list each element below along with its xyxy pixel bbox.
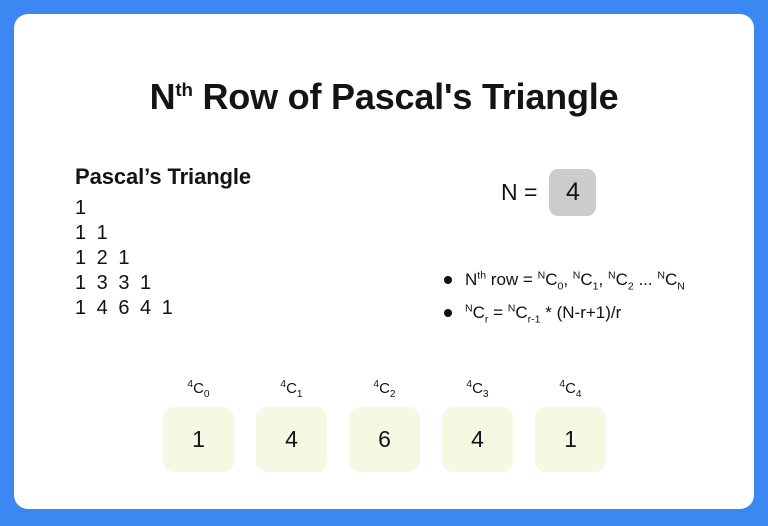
formula-text: NCr = NCr-1 * (N-r+1)/r	[465, 303, 621, 322]
page-title-rest: Row of Pascal's Triangle	[193, 76, 619, 117]
bullet-icon	[444, 309, 452, 317]
pascals-triangle-heading: Pascal’s Triangle	[75, 164, 365, 190]
pascals-triangle-panel: Pascal’s Triangle 1 1 1 1 2 1 1 3 3 1 1 …	[75, 164, 365, 321]
page-title: Nth Row of Pascal's Triangle	[14, 76, 754, 118]
page-title-prefix: N	[150, 76, 176, 117]
formula-item-recurrence: NCr = NCr-1 * (N-r+1)/r	[444, 303, 685, 323]
result-label: 4C4	[559, 380, 581, 397]
result-label: 4C3	[466, 380, 488, 397]
result-row: 4C0 1 4C1 4 4C2 6 4C3 4 4C4 1	[163, 380, 606, 472]
app-frame: Nth Row of Pascal's Triangle Pascal’s Tr…	[0, 0, 768, 526]
content-card: Nth Row of Pascal's Triangle Pascal’s Tr…	[14, 14, 754, 509]
result-value-box: 6	[349, 407, 420, 472]
result-label: 4C1	[280, 380, 302, 397]
triangle-row: 1 3 3 1	[75, 271, 365, 296]
triangle-row: 1 1	[75, 221, 365, 246]
page-title-superscript: th	[175, 79, 192, 100]
result-value-box: 1	[535, 407, 606, 472]
result-item: 4C2 6	[349, 380, 420, 472]
n-value-input[interactable]: 4	[549, 169, 596, 216]
formula-text: Nth row = NC0, NC1, NC2 ... NCN	[465, 270, 685, 289]
formula-item-nth-row: Nth row = NC0, NC1, NC2 ... NCN	[444, 270, 685, 290]
result-item: 4C4 1	[535, 380, 606, 472]
result-value-box: 1	[163, 407, 234, 472]
triangle-row: 1	[75, 196, 365, 221]
n-input-group: N = 4	[501, 169, 596, 216]
bullet-icon	[444, 276, 452, 284]
triangle-row: 1 4 6 4 1	[75, 296, 365, 321]
result-value-box: 4	[442, 407, 513, 472]
result-label: 4C0	[187, 380, 209, 397]
n-label: N =	[501, 179, 537, 206]
result-item: 4C1 4	[256, 380, 327, 472]
triangle-row: 1 2 1	[75, 246, 365, 271]
result-value-box: 4	[256, 407, 327, 472]
result-label: 4C2	[373, 380, 395, 397]
formula-list: Nth row = NC0, NC1, NC2 ... NCN NCr = NC…	[444, 270, 685, 336]
result-item: 4C0 1	[163, 380, 234, 472]
result-item: 4C3 4	[442, 380, 513, 472]
